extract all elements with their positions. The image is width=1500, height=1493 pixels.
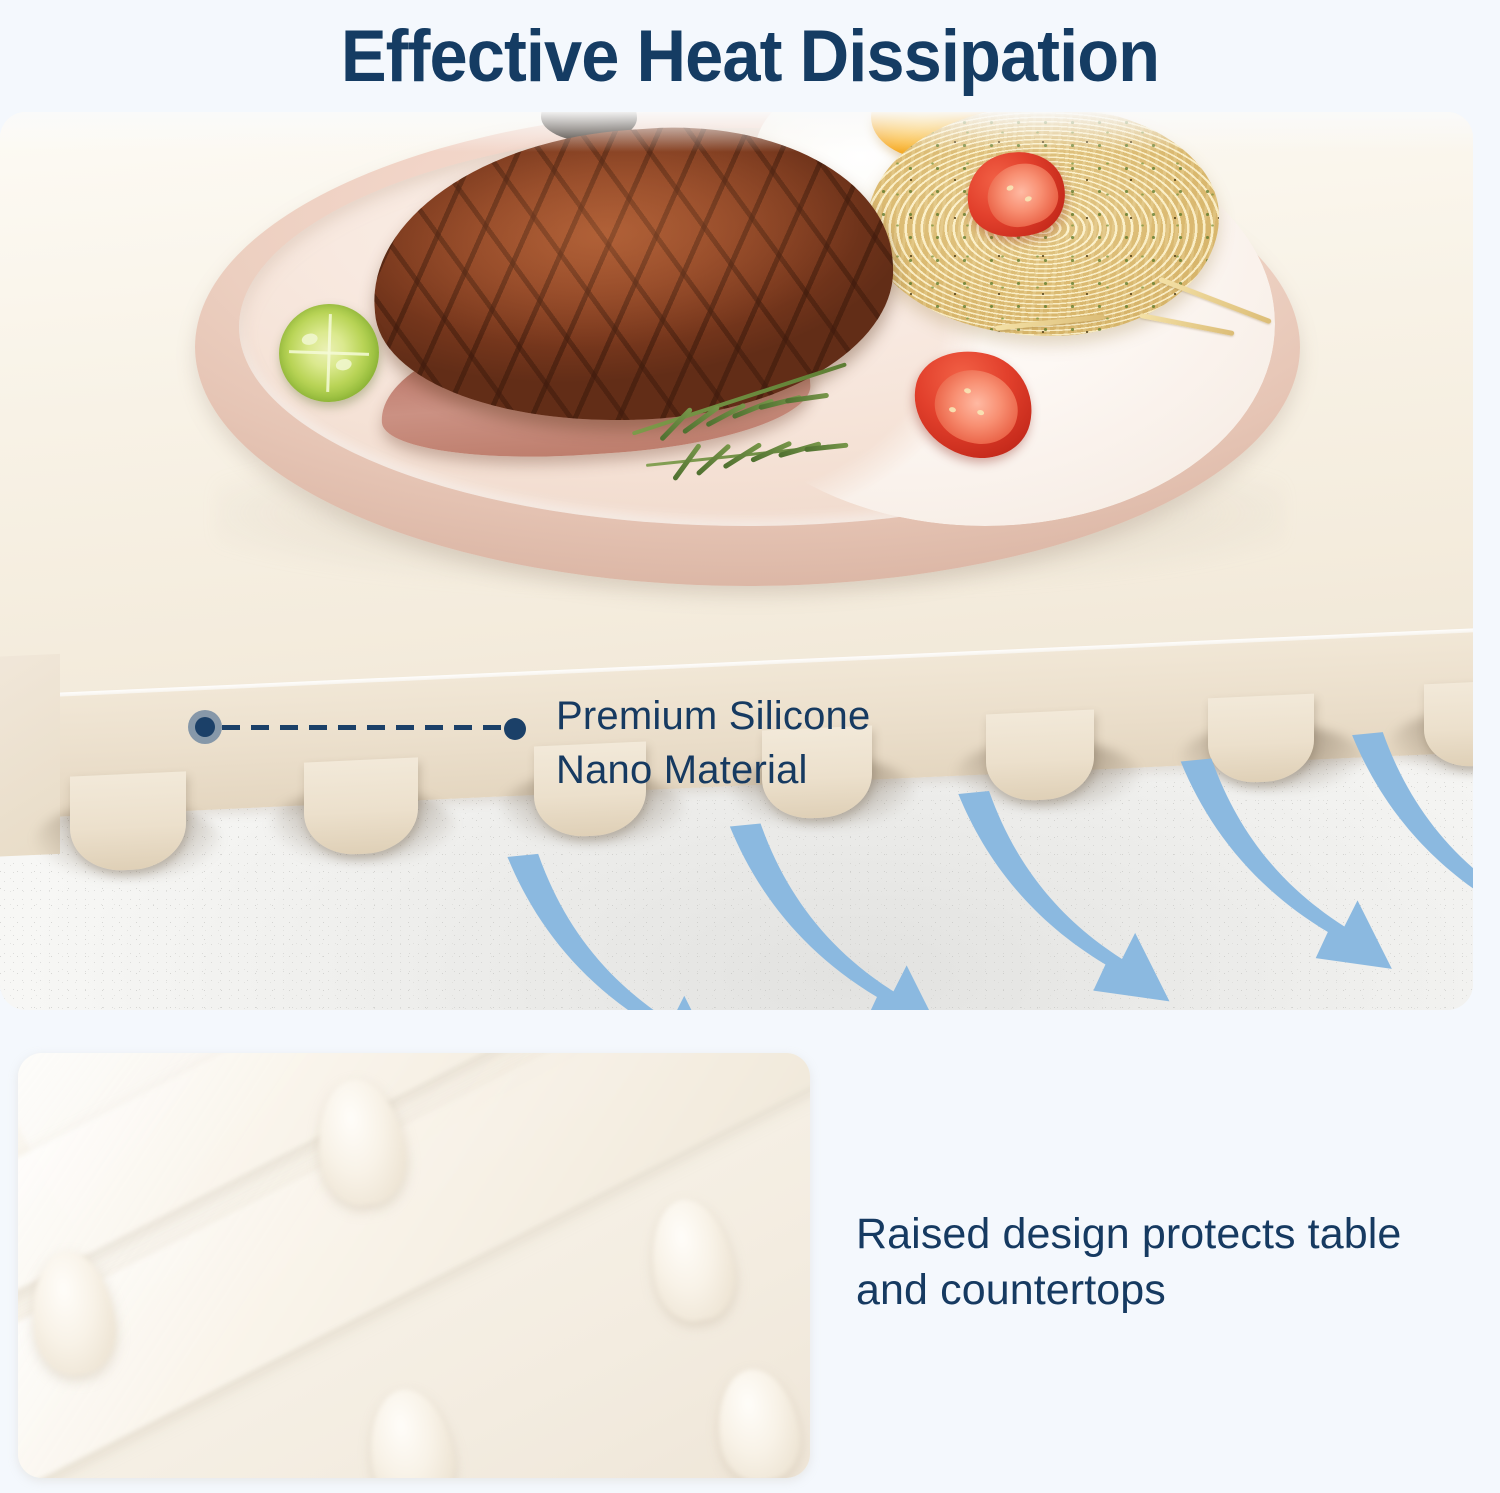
page-title: Effective Heat Dissipation xyxy=(45,0,1455,112)
raised-design-closeup-image xyxy=(18,1053,810,1478)
callout-anchor-dot xyxy=(195,717,215,737)
tomato-flesh xyxy=(927,362,1026,452)
lime-pulp xyxy=(335,358,353,372)
hero-image-panel: Premium Silicone Nano Material xyxy=(0,112,1473,1010)
product-feature-graphic: Effective Heat Dissipation xyxy=(0,0,1500,1493)
tomato-flesh xyxy=(979,155,1065,236)
callout-label: Premium Silicone Nano Material xyxy=(556,690,870,797)
rosemary-sprig xyxy=(613,312,887,535)
rosemary-needle xyxy=(785,393,829,404)
silicone-nub xyxy=(710,1363,807,1478)
raised-design-caption: Raised design protects table and counter… xyxy=(856,1207,1476,1319)
silicone-nub xyxy=(361,1383,460,1478)
lime-pulp xyxy=(301,332,319,346)
plate-with-food xyxy=(195,112,1305,608)
silicone-nub xyxy=(642,1193,742,1327)
callout-dashed-connector xyxy=(222,725,512,730)
premium-silicone-callout: Premium Silicone Nano Material xyxy=(188,696,1088,806)
callout-end-dot xyxy=(504,718,526,740)
